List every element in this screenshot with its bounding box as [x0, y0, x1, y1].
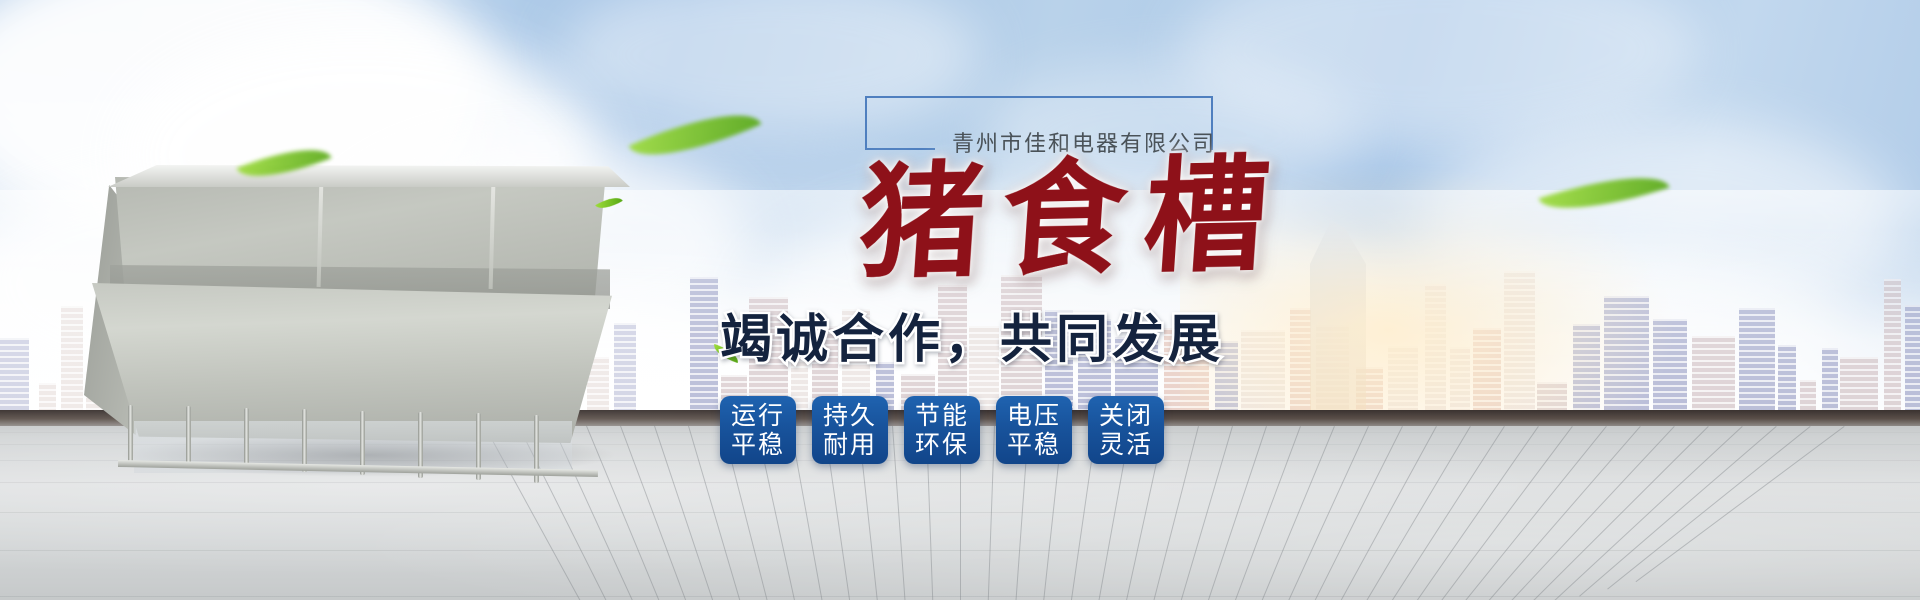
divider-bar [302, 409, 307, 472]
badge-line-2: 平稳 [731, 430, 785, 460]
feature-badge-list: 运行平稳持久耐用节能环保电压平稳关闭灵活 [720, 396, 1164, 464]
banner-text-block: 青州市佳和电器有限公司 猪食槽 竭诚合作，共同发展 运行平稳持久耐用节能环保电压… [700, 96, 1400, 556]
badge-line-1: 节能 [915, 401, 969, 431]
trough-top-rim [86, 165, 630, 187]
feature-badge-5[interactable]: 关闭灵活 [1088, 396, 1164, 464]
badge-line-2: 环保 [915, 430, 969, 460]
floor-tile-row [0, 596, 1920, 597]
product-image-feeder-trough [78, 165, 638, 485]
badge-line-2: 平稳 [1007, 430, 1061, 460]
feature-badge-3[interactable]: 节能环保 [904, 396, 980, 464]
divider-bar [244, 408, 249, 469]
frame-top-border [865, 96, 1213, 98]
frame-left-border [865, 96, 867, 150]
badge-line-1: 持久 [823, 401, 877, 431]
divider-bar [186, 406, 191, 466]
feature-badge-2[interactable]: 持久耐用 [812, 396, 888, 464]
page-title: 猪食槽 [856, 154, 1291, 287]
promotional-banner: 青州市佳和电器有限公司 猪食槽 竭诚合作，共同发展 运行平稳持久耐用节能环保电压… [0, 0, 1920, 600]
badge-line-2: 灵活 [1099, 430, 1153, 460]
divider-bar [128, 405, 133, 463]
banner-subtitle: 竭诚合作，共同发展 [720, 314, 1224, 366]
feature-badge-1[interactable]: 运行平稳 [720, 396, 796, 464]
badge-line-1: 电压 [1007, 401, 1061, 431]
feature-badge-4[interactable]: 电压平稳 [996, 396, 1072, 464]
badge-line-1: 运行 [731, 401, 785, 431]
badge-line-2: 耐用 [823, 430, 877, 460]
badge-line-1: 关闭 [1099, 401, 1153, 431]
